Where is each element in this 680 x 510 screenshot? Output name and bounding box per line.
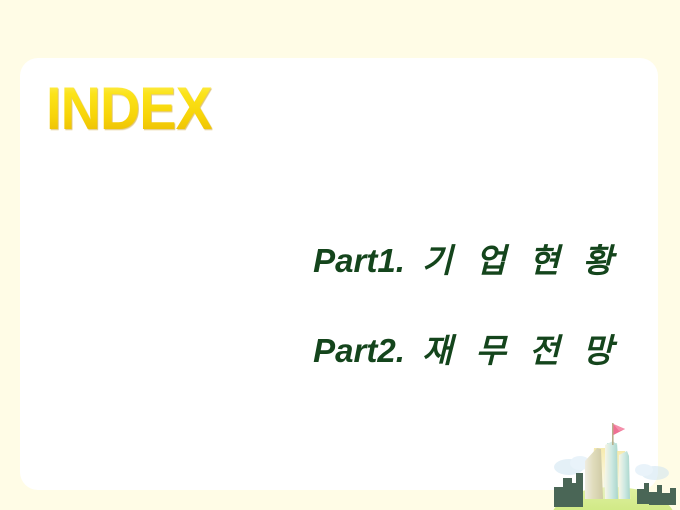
slide-canvas: INDEX Part1. 기 업 현 황 Part2. 재 무 전 망: [0, 0, 680, 510]
hill-shape: [551, 487, 675, 510]
list-item-label: Part1.: [313, 242, 405, 279]
index-list: Part1. 기 업 현 황 Part2. 재 무 전 망: [0, 238, 620, 374]
list-item-label: Part2.: [313, 332, 405, 369]
page-title-text: INDEX: [46, 78, 212, 140]
list-item[interactable]: Part1. 기 업 현 황: [0, 238, 620, 284]
list-item-topic: 재 무 전 망: [422, 332, 620, 369]
list-item-topic: 기 업 현 황: [422, 242, 620, 279]
list-item[interactable]: Part2. 재 무 전 망: [0, 328, 620, 374]
page-title: INDEX: [46, 78, 224, 144]
